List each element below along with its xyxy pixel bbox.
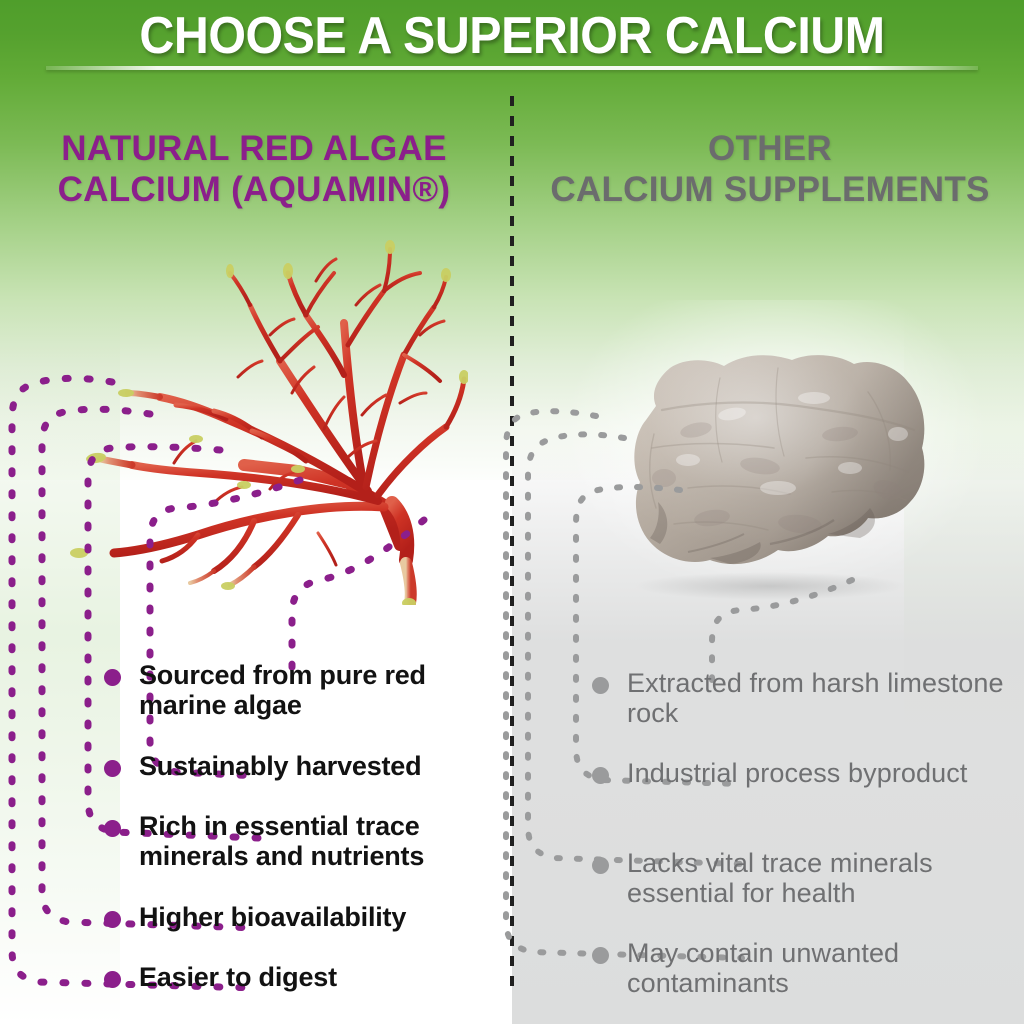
bullet-dot-icon — [592, 947, 609, 964]
list-item: Industrial process byproduct — [592, 758, 967, 788]
list-item: Rich in essential trace minerals and nut… — [104, 811, 504, 871]
list-item-label: Extracted from harsh limestone rock — [627, 668, 1004, 728]
list-item-label: Sustainably harvested — [139, 751, 421, 781]
bullet-dot-icon — [104, 971, 121, 988]
infographic-canvas: CHOOSE A SUPERIOR CALCIUM NATURAL RED AL… — [0, 0, 1024, 1024]
list-item-label: Higher bioavailability — [139, 902, 406, 932]
bullet-dot-icon — [104, 820, 121, 837]
list-item: Sourced from pure red marine algae — [104, 660, 504, 720]
bullet-dot-icon — [104, 911, 121, 928]
bullet-dot-icon — [592, 857, 609, 874]
bullet-dot-icon — [104, 760, 121, 777]
list-item-label: Easier to digest — [139, 962, 337, 992]
bullet-dot-icon — [104, 669, 121, 686]
list-item-label: May contain unwanted contaminants — [627, 938, 1004, 998]
list-item-label: Rich in essential trace minerals and nut… — [139, 811, 504, 871]
bullet-dot-icon — [592, 677, 609, 694]
list-item: May contain unwanted contaminants — [592, 938, 1004, 998]
list-item: Lacks vital trace minerals essential for… — [592, 848, 1004, 908]
list-item-label: Lacks vital trace minerals essential for… — [627, 848, 1004, 908]
list-item: Extracted from harsh limestone rock — [592, 668, 1004, 728]
list-item-label: Sourced from pure red marine algae — [139, 660, 504, 720]
list-item-label: Industrial process byproduct — [627, 758, 967, 788]
list-item: Easier to digest — [104, 962, 337, 992]
list-item: Sustainably harvested — [104, 751, 421, 781]
list-item: Higher bioavailability — [104, 902, 406, 932]
bullet-dot-icon — [592, 767, 609, 784]
